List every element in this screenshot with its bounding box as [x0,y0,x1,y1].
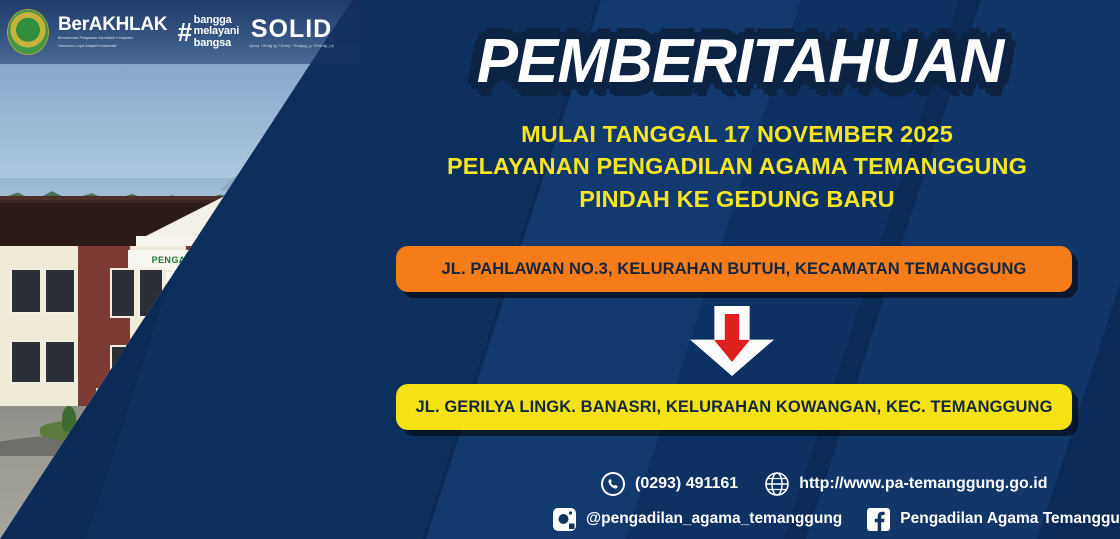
phone-contact[interactable]: (0293) 491161 [600,471,738,497]
title-banner: PEMBERITAHUAN [420,18,1060,106]
website-url: http://www.pa-temanggung.go.id [799,475,1047,493]
page-title: PEMBERITAHUAN [477,31,1004,93]
new-address-badge: JL. GERILYA LINGK. BANASRI, KELURAHAN KO… [396,384,1072,430]
solid-subtitle: Qanq +Ithajj qj +Jineij +Sinqqq_q +Eldra… [249,44,334,48]
instagram-icon [552,507,577,532]
logo-row: BerAKHLAK Berorientasi Pelayanan Akuntab… [0,0,360,64]
facebook-contact[interactable]: Pengadilan Agama Temanggung [866,507,1120,532]
berakhlak-logo: BerAKHLAK Berorientasi Pelayanan Akuntab… [58,15,167,49]
hash-icon: # [177,19,191,45]
facebook-page: Pengadilan Agama Temanggung [900,510,1120,528]
phone-icon [600,471,626,497]
contact-row: (0293) 491161 http://www.pa-temanggung.g… [600,466,1100,502]
old-address-badge: JL. PAHLAWAN NO.3, KELURAHAN BUTUH, KECA… [396,246,1072,292]
instagram-handle: @pengadilan_agama_temanggung [586,510,842,528]
bangga-melayani-text: bangga melayani bangsa [194,15,239,49]
pemberitahuan-banner: PENGADILAN AGAMA TEMANGGUNG KELAS IB [0,0,1120,539]
instagram-contact[interactable]: @pengadilan_agama_temanggung [552,507,842,532]
social-row: @pengadilan_agama_temanggung Pengadilan … [552,503,1100,535]
headline-line-1: MULAI TANGGAL 17 NOVEMBER 2025 [392,118,1082,150]
bangga-melayani-bangsa-logo: # bangga melayani bangsa [177,15,239,49]
solid-title: SOLID [251,17,332,42]
bangga-line3: bangsa [194,38,239,49]
headline: MULAI TANGGAL 17 NOVEMBER 2025 PELAYANAN… [392,118,1082,215]
berakhlak-subtitle-line1: Berorientasi Pelayanan Akuntabel Kompete… [58,36,154,41]
globe-icon [764,471,790,497]
facebook-icon [866,507,891,532]
phone-number: (0293) 491161 [635,475,738,493]
berakhlak-subtitle-line2: Harmonis Loyal Adaptif Kolaboratif [58,44,154,49]
headline-line-2: PELAYANAN PENGADILAN AGAMA TEMANGGUNG [392,150,1082,182]
solid-logo: SOLID Qanq +Ithajj qj +Jineij +Sinqqq_q … [249,17,334,48]
bangga-line2: melayani [194,26,239,37]
berakhlak-title: BerAKHLAK [58,15,167,34]
mahkamah-agung-emblem-icon [8,10,48,54]
down-arrow-icon [690,306,774,376]
headline-line-3: PINDAH KE GEDUNG BARU [392,183,1082,215]
website-contact[interactable]: http://www.pa-temanggung.go.id [764,471,1047,497]
